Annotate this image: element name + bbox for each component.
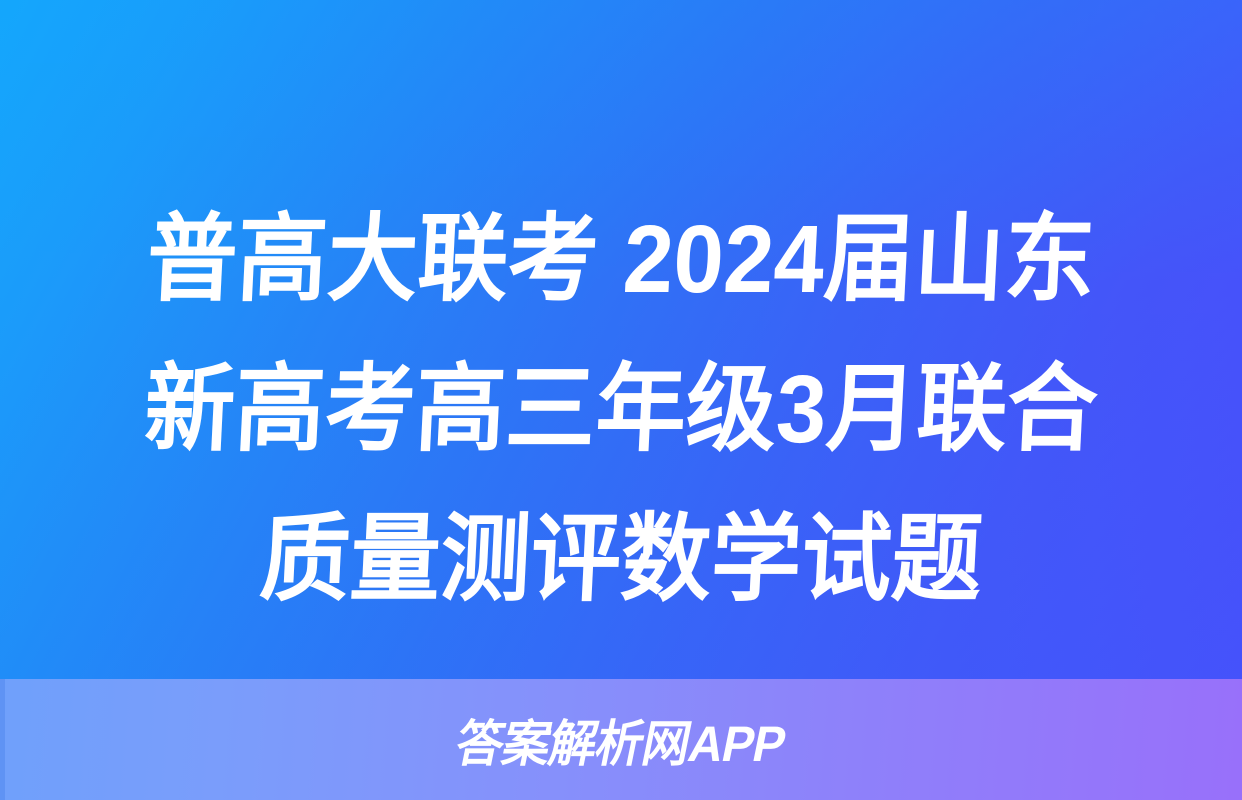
- watermark-container: 答案解析网APP: [0, 679, 1242, 800]
- title-line-1: 普高大联考 2024届山东: [34, 185, 1209, 335]
- poster-canvas: 普高大联考 2024届山东 新高考高三年级3月联合 质量测评数学试题 答案解析网…: [0, 0, 1242, 800]
- watermark-brand-label: 答案解析网APP: [450, 704, 792, 776]
- title-line-2: 新高考高三年级3月联合: [34, 335, 1209, 485]
- poster-title: 普高大联考 2024届山东 新高考高三年级3月联合 质量测评数学试题: [0, 185, 1242, 635]
- title-line-3: 质量测评数学试题: [34, 485, 1209, 635]
